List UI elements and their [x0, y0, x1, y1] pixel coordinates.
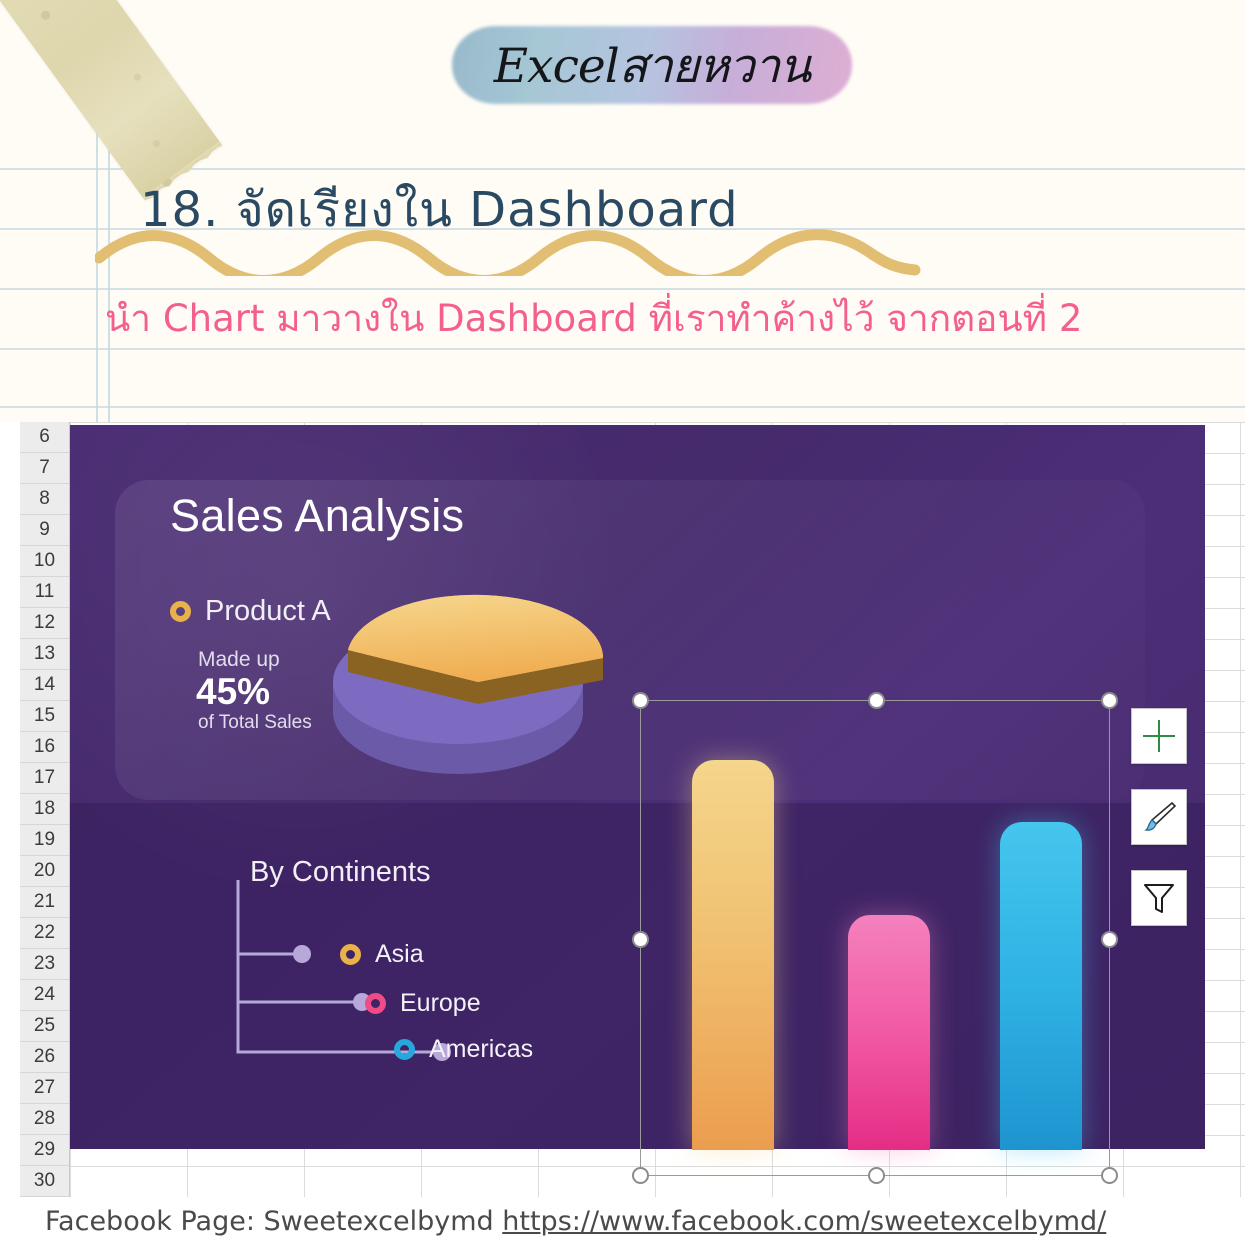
- footer-url-link[interactable]: https://www.facebook.com/sweetexcelbymd/: [502, 1206, 1106, 1237]
- row-header-8[interactable]: 8: [20, 484, 69, 515]
- row-header-15[interactable]: 15: [20, 701, 69, 732]
- continents-bar-chart[interactable]: [640, 700, 1160, 1150]
- footer-label: Facebook Page: Sweetexcelbymd: [45, 1206, 502, 1237]
- percent-value: 45%: [196, 671, 270, 713]
- plus-icon: [1139, 716, 1179, 756]
- legend-item-asia: Asia: [340, 940, 424, 969]
- sales-pie-chart: [318, 552, 608, 792]
- row-header-14[interactable]: 14: [20, 670, 69, 701]
- bar-americas[interactable]: [1000, 822, 1082, 1150]
- bar-europe[interactable]: [848, 915, 930, 1150]
- legend-item-americas: Americas: [394, 1035, 533, 1064]
- grid-line-horizontal: [70, 1166, 1245, 1167]
- rule-line: [0, 406, 1245, 408]
- row-header-25[interactable]: 25: [20, 1011, 69, 1042]
- row-header-20[interactable]: 20: [20, 856, 69, 887]
- row-header-30[interactable]: 30: [20, 1166, 69, 1197]
- grid-line-vertical: [1240, 422, 1241, 1197]
- row-header-23[interactable]: 23: [20, 949, 69, 980]
- page-subtitle: นำ Chart มาวางใน Dashboard ที่เราทำค้างไ…: [105, 292, 1225, 346]
- row-header-27[interactable]: 27: [20, 1073, 69, 1104]
- dashboard-title: Sales Analysis: [170, 490, 464, 542]
- rule-line: [0, 348, 1245, 350]
- row-header-21[interactable]: 21: [20, 887, 69, 918]
- row-header-6[interactable]: 6: [20, 422, 69, 453]
- chart-tool-buttons[interactable]: [1131, 708, 1189, 951]
- row-header-16[interactable]: 16: [20, 732, 69, 763]
- bar-asia[interactable]: [692, 760, 774, 1150]
- footer-bar: Facebook Page: Sweetexcelbymd https://ww…: [0, 1197, 1245, 1245]
- of-total-label: of Total Sales: [198, 712, 312, 734]
- row-header-26[interactable]: 26: [20, 1042, 69, 1073]
- row-header-28[interactable]: 28: [20, 1104, 69, 1135]
- wavy-underline-decoration: [95, 228, 925, 276]
- row-header-22[interactable]: 22: [20, 918, 69, 949]
- row-header-13[interactable]: 13: [20, 639, 69, 670]
- americas-ring-icon: [394, 1039, 415, 1060]
- made-up-label: Made up: [198, 648, 280, 672]
- chart-elements-button[interactable]: [1131, 708, 1187, 764]
- row-header-18[interactable]: 18: [20, 794, 69, 825]
- chart-filters-button[interactable]: [1131, 870, 1187, 926]
- americas-label: Americas: [429, 1035, 533, 1064]
- row-header-29[interactable]: 29: [20, 1135, 69, 1166]
- funnel-icon: [1139, 878, 1179, 918]
- product-a-ring-icon: [170, 601, 191, 622]
- product-a-label: Product A: [205, 595, 331, 628]
- paintbrush-icon: [1139, 797, 1179, 837]
- asia-ring-icon: [340, 944, 361, 965]
- europe-ring-icon: [365, 993, 386, 1014]
- washi-tape-decoration: [0, 0, 222, 200]
- row-header-17[interactable]: 17: [20, 763, 69, 794]
- product-legend-item: Product A: [170, 595, 331, 628]
- row-header-column[interactable]: 6789101112131415161718192021222324252627…: [20, 422, 70, 1197]
- row-header-11[interactable]: 11: [20, 577, 69, 608]
- footer-text-group: Facebook Page: Sweetexcelbymd https://ww…: [45, 1206, 1106, 1237]
- legend-item-europe: Europe: [365, 989, 481, 1018]
- chart-styles-button[interactable]: [1131, 789, 1187, 845]
- brand-logo: Excelสายหวาน: [452, 26, 852, 104]
- row-header-12[interactable]: 12: [20, 608, 69, 639]
- asia-label: Asia: [375, 940, 424, 969]
- rule-line: [0, 288, 1245, 290]
- row-header-9[interactable]: 9: [20, 515, 69, 546]
- notebook-paper: Excelสายหวาน 18. จัดเรียงใน Dashboard นำ…: [0, 0, 1245, 422]
- logo-text: Excelสายหวาน: [452, 26, 852, 104]
- row-header-10[interactable]: 10: [20, 546, 69, 577]
- row-header-7[interactable]: 7: [20, 453, 69, 484]
- grid-line-horizontal: [70, 422, 1245, 423]
- row-header-24[interactable]: 24: [20, 980, 69, 1011]
- row-header-19[interactable]: 19: [20, 825, 69, 856]
- europe-label: Europe: [400, 989, 481, 1018]
